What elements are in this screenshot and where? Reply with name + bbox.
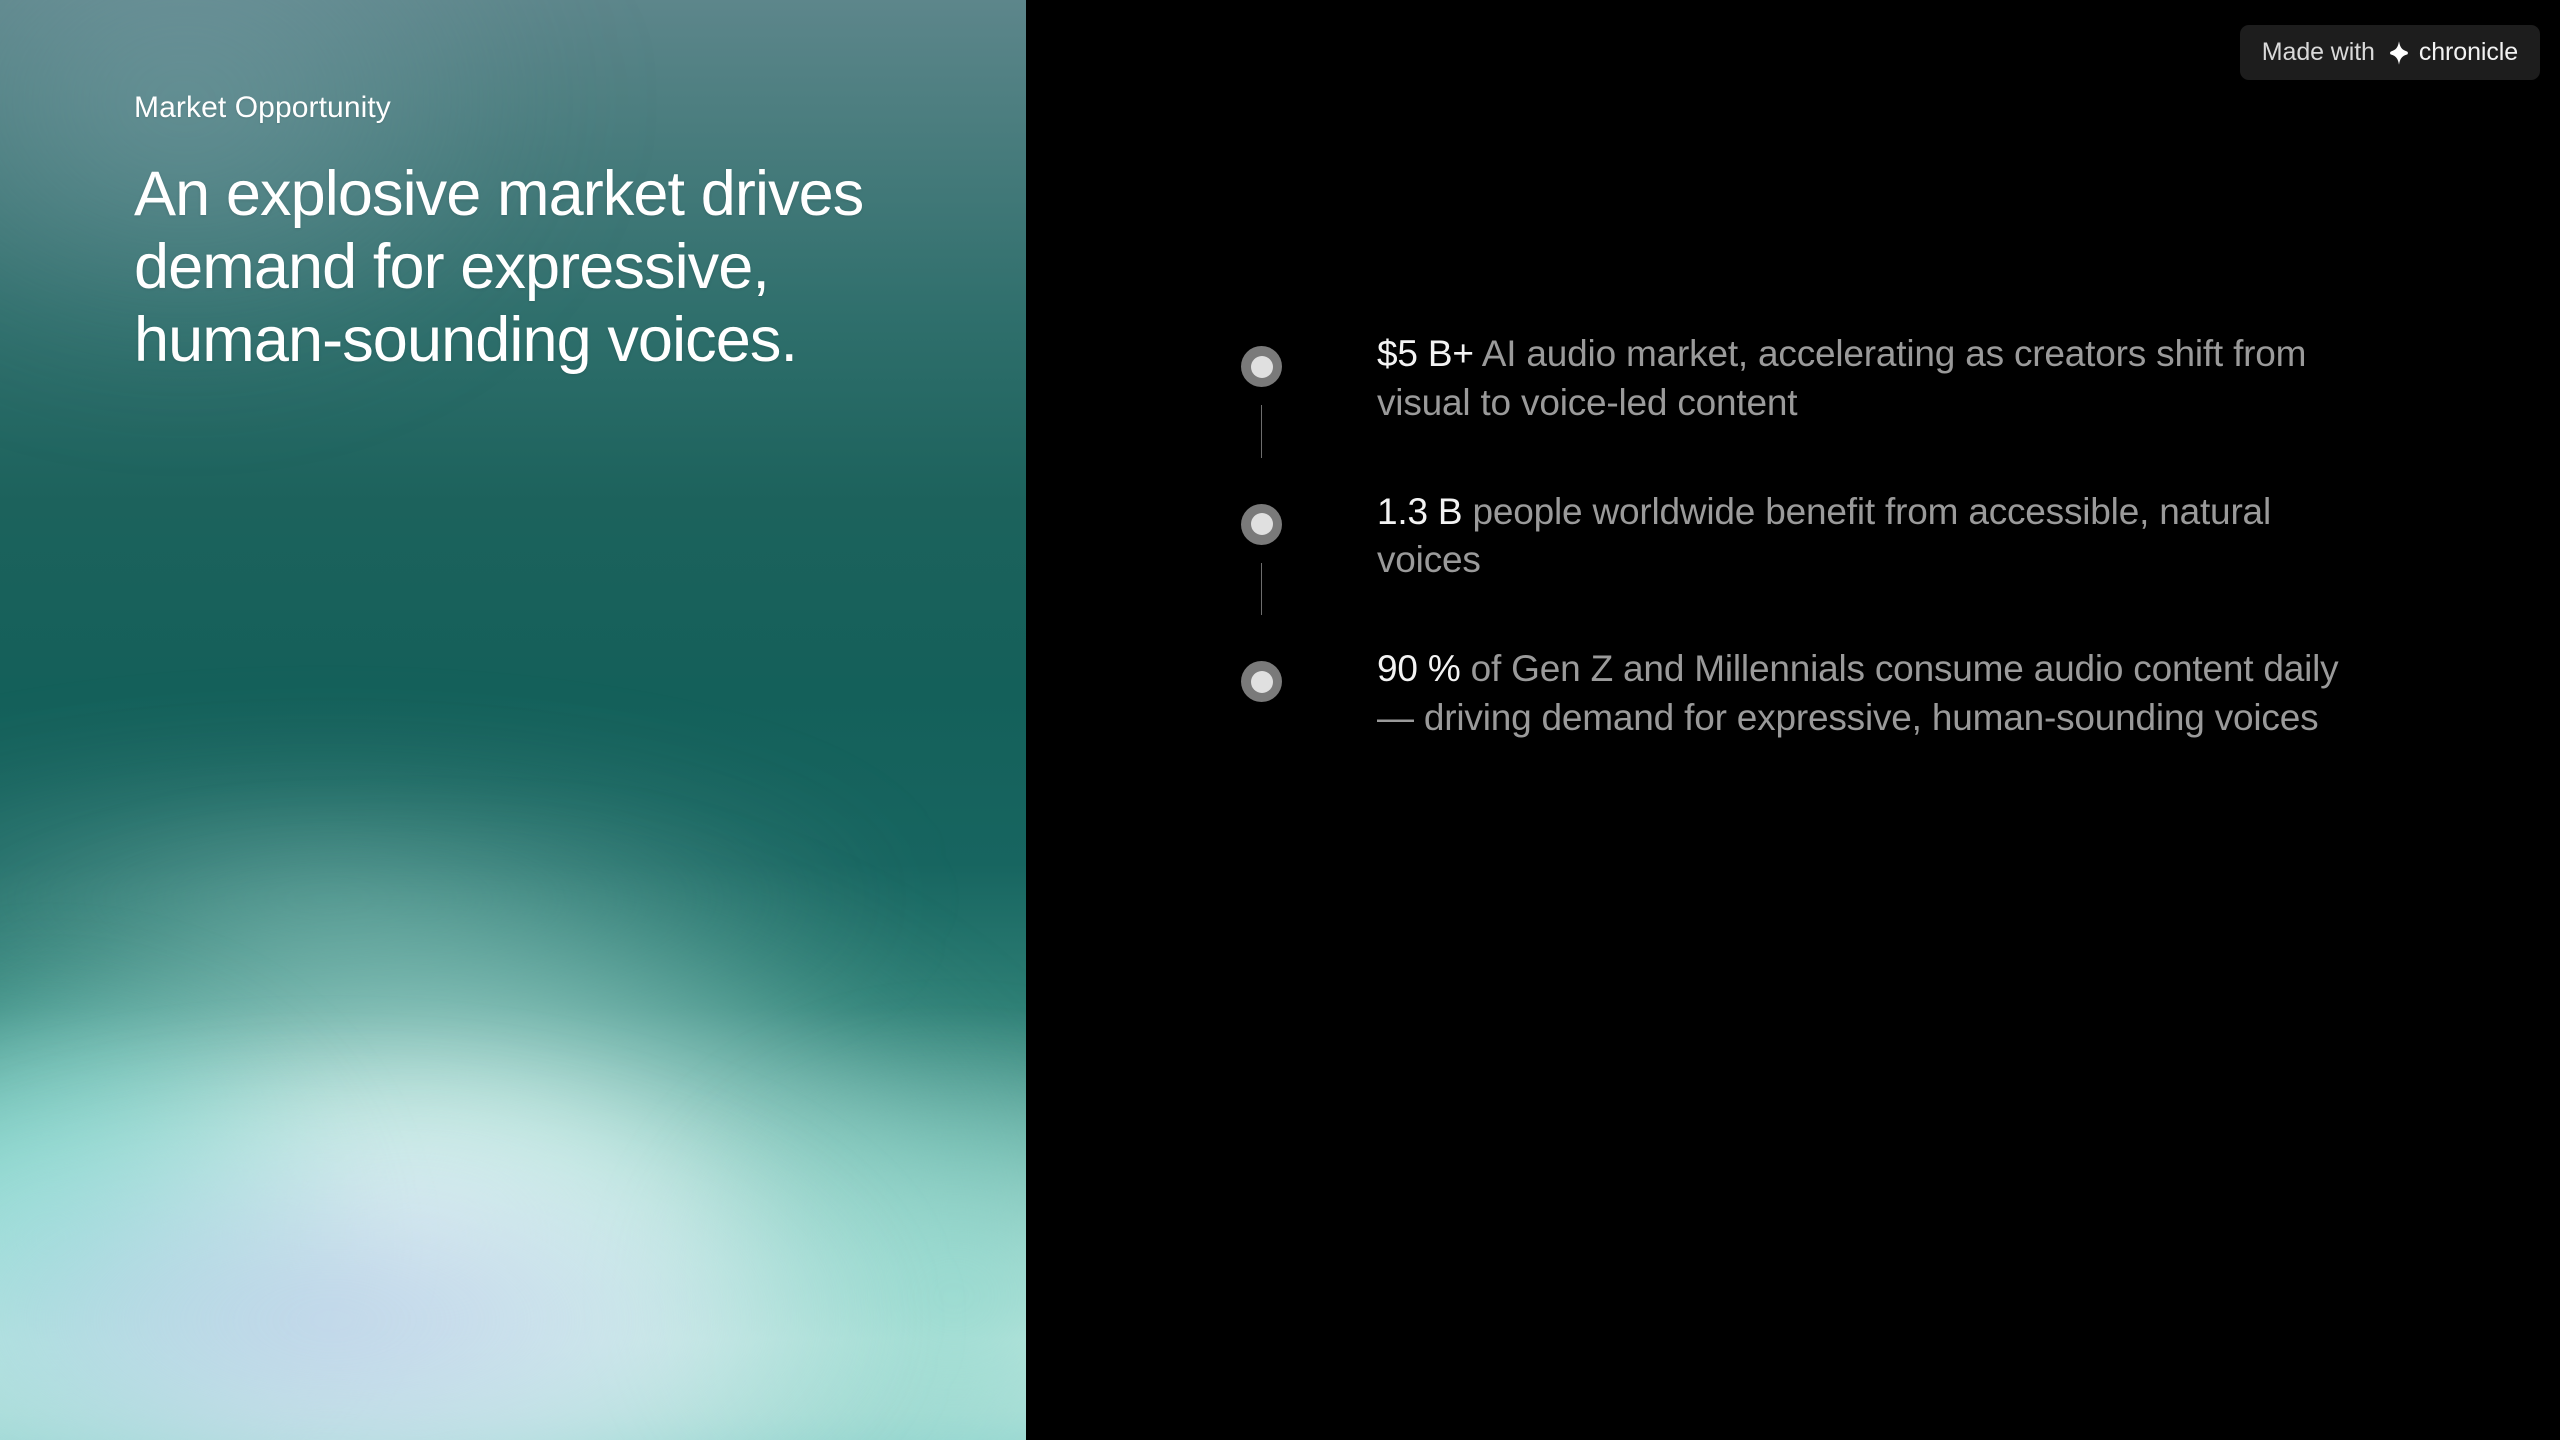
timeline-dot-icon [1241, 504, 1282, 545]
list-item: $5 B+ AI audio market, accelerating as c… [1241, 330, 2381, 488]
made-with-chronicle-badge[interactable]: Made with chronicle [2240, 25, 2540, 80]
timeline-dot-icon [1241, 346, 1282, 387]
list-item-body: $5 B+ AI audio market, accelerating as c… [1282, 330, 2381, 488]
sparkle-icon [2386, 40, 2412, 66]
left-gradient-panel: Market Opportunity An explosive market d… [0, 0, 1026, 1440]
stat-value: 1.3 B [1377, 491, 1462, 532]
stat-description: of Gen Z and Millennials consume audio c… [1377, 648, 2338, 738]
timeline-connector-line [1261, 405, 1262, 458]
stat-value: 90 % [1377, 648, 1461, 689]
eyebrow-label: Market Opportunity [134, 90, 924, 126]
badge-prefix-label: Made with [2262, 38, 2375, 67]
list-item-body: 90 % of Gen Z and Millennials consume au… [1282, 645, 2381, 743]
timeline-rail [1241, 645, 1282, 743]
gradient-glow-periwinkle [0, 1066, 893, 1440]
list-item-body: 1.3 B people worldwide benefit from acce… [1282, 488, 2381, 646]
timeline-rail [1241, 330, 1282, 488]
right-content-panel: $5 B+ AI audio market, accelerating as c… [1026, 0, 2560, 1440]
stat-description: AI audio market, accelerating as creator… [1377, 333, 2306, 423]
slide: Market Opportunity An explosive market d… [0, 0, 2560, 1440]
brand-name-label: chronicle [2419, 38, 2518, 67]
panel-text-block: Market Opportunity An explosive market d… [134, 90, 924, 377]
timeline-rail [1241, 488, 1282, 646]
list-item: 90 % of Gen Z and Millennials consume au… [1241, 645, 2381, 743]
timeline-dot-icon [1241, 661, 1282, 702]
page-title: An explosive market drives demand for ex… [134, 158, 924, 377]
timeline-list: $5 B+ AI audio market, accelerating as c… [1241, 330, 2381, 743]
timeline-connector-line [1261, 563, 1262, 616]
stat-value: $5 B+ [1377, 333, 1474, 374]
list-item: 1.3 B people worldwide benefit from acce… [1241, 488, 2381, 646]
chronicle-brand: chronicle [2386, 38, 2518, 67]
stat-description: people worldwide benefit from accessible… [1377, 491, 2271, 581]
